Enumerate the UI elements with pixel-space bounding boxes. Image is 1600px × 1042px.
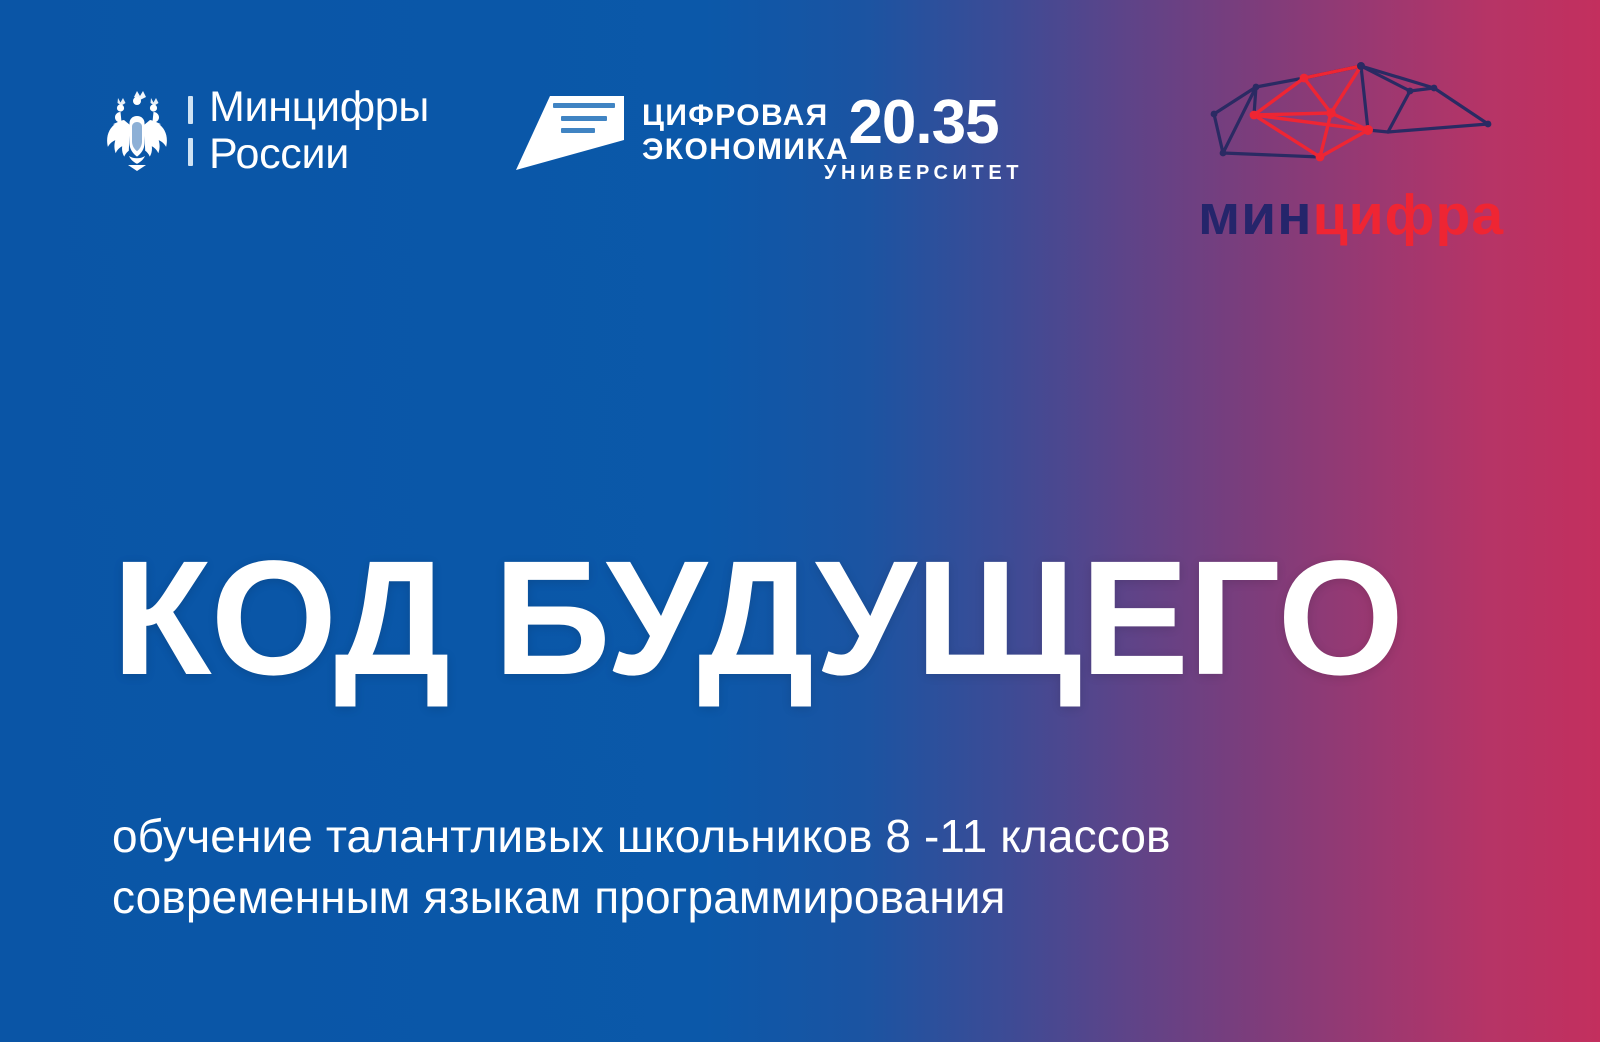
logo-mincifra-wordmark: минцифра — [1196, 187, 1506, 244]
logo-2035-word: УНИВЕРСИТЕТ — [824, 162, 1023, 185]
headline-title: КОД БУДУЩЕГО — [112, 536, 1403, 699]
logo-digital-economy-wordmark: ЦИФРОВАЯ ЭКОНОМИКА — [642, 99, 849, 167]
national-projects-caption-lines — [553, 103, 615, 133]
logo-university-2035: 20.35 УНИВЕРСИТЕТ — [824, 92, 1023, 185]
logo-digital-economy-line2: ЭКОНОМИКА — [642, 133, 849, 167]
network-mesh-icon — [1196, 58, 1506, 183]
logo-mincifra: минцифра — [1196, 58, 1506, 244]
subtitle: обучение талантливых школьников 8 -11 кл… — [112, 806, 1171, 928]
logo-mincifry-line2: России — [209, 133, 429, 176]
logo-digital-economy: НАЦИОНАЛЬНЫЕ ПРОЕКТЫ РОССИИ ЦИФРОВАЯ ЭКО… — [512, 92, 849, 174]
logo-mincifra-word-dark: мин — [1198, 183, 1313, 247]
logo-mincifry-line1: Минцифры — [209, 86, 429, 129]
double-headed-eagle-icon — [100, 89, 174, 173]
logo-strip: Минцифры России НАЦИОНАЛЬНЫЕ ПРОЕКТЫ РОС… — [0, 0, 1600, 260]
subtitle-line-1: обучение талантливых школьников 8 -11 кл… — [112, 806, 1171, 867]
promo-banner: Минцифры России НАЦИОНАЛЬНЫЕ ПРОЕКТЫ РОС… — [0, 0, 1600, 1042]
logo-2035-number: 20.35 — [824, 92, 1023, 154]
logo-mincifry-rossii: Минцифры России — [100, 86, 429, 176]
logo-divider — [188, 96, 193, 166]
national-projects-flag-icon: НАЦИОНАЛЬНЫЕ ПРОЕКТЫ РОССИИ — [512, 92, 628, 174]
logo-digital-economy-line1: ЦИФРОВАЯ — [642, 99, 849, 133]
logo-mincifry-wordmark: Минцифры России — [209, 86, 429, 176]
logo-mincifra-word-red: цифра — [1313, 183, 1504, 247]
subtitle-line-2: современным языкам программирования — [112, 867, 1171, 928]
